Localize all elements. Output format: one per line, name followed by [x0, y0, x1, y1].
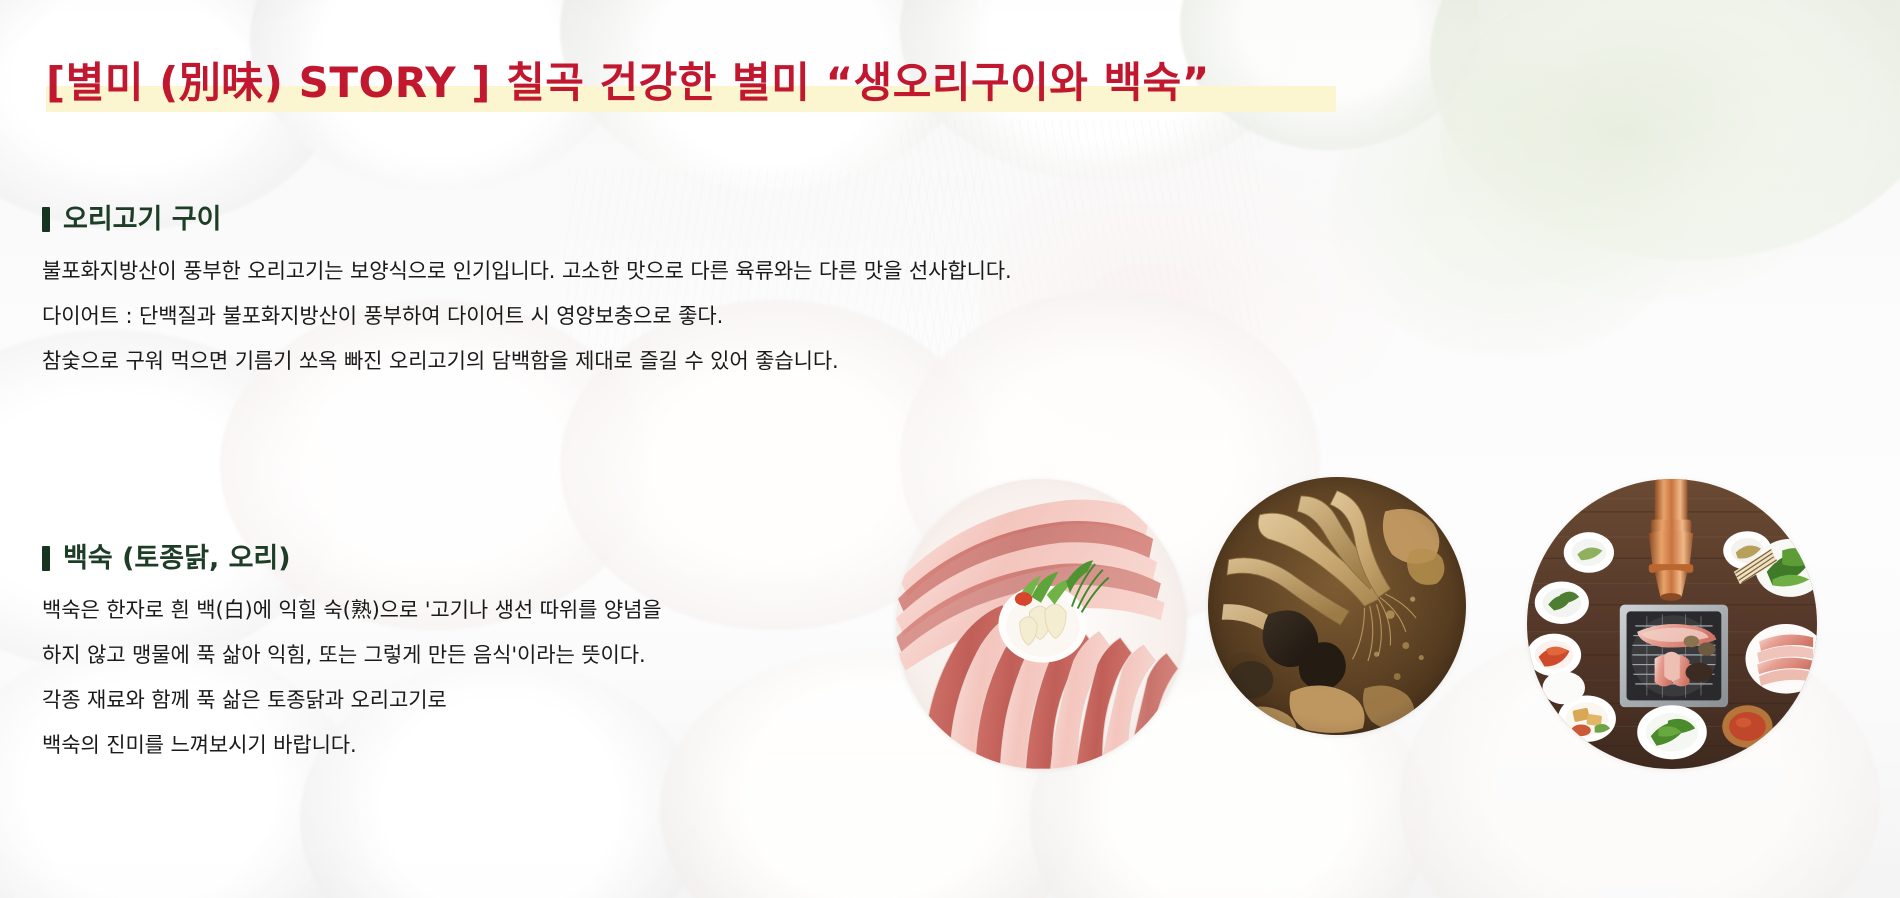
section-body: 백숙은 한자로 흰 백(白)에 익힐 숙(熟)으로 '고기나 생선 따위를 양념…: [42, 588, 662, 768]
section-body: 불포화지방산이 풍부한 오리고기는 보양식으로 인기입니다. 고소한 맛으로 다…: [42, 249, 1012, 384]
body-line: 백숙은 한자로 흰 백(白)에 익힐 숙(熟)으로 '고기나 생선 따위를 양념…: [42, 588, 662, 633]
section-baeksuk: 백숙 (토종닭, 오리) 백숙은 한자로 흰 백(白)에 익힐 숙(熟)으로 '…: [42, 545, 662, 768]
section-heading-text: 백숙 (토종닭, 오리): [63, 545, 291, 572]
body-line: 참숯으로 구워 먹으면 기름기 쏘옥 빠진 오리고기의 담백함을 제대로 즐길 …: [42, 339, 1012, 384]
body-line: 백숙의 진미를 느껴보시기 바랍니다.: [42, 723, 662, 768]
section-duck-grill: 오리고기 구이 불포화지방산이 풍부한 오리고기는 보양식으로 인기입니다. 고…: [42, 206, 1012, 384]
page-title-text: [별미 (別味) STORY ] 칠곡 건강한 별미 “생오리구이와 백숙”: [46, 62, 1210, 104]
section-heading: 백숙 (토종닭, 오리): [42, 545, 662, 572]
photo-grilled-duck-table-setting: [1527, 479, 1817, 769]
body-line: 불포화지방산이 풍부한 오리고기는 보양식으로 인기입니다. 고소한 맛으로 다…: [42, 249, 1012, 294]
heading-bar-icon: [42, 207, 50, 232]
body-line: 다이어트 : 단백질과 불포화지방산이 풍부하여 다이어트 시 영양보충으로 좋…: [42, 294, 1012, 339]
page-content: [별미 (別味) STORY ] 칠곡 건강한 별미 “생오리구이와 백숙” 오…: [0, 0, 1900, 898]
page-title: [별미 (別味) STORY ] 칠곡 건강한 별미 “생오리구이와 백숙”: [46, 52, 1210, 114]
body-line: 각종 재료와 함께 푹 삶은 토종닭과 오리고기로: [42, 678, 662, 723]
section-heading-text: 오리고기 구이: [63, 206, 221, 233]
photo-baeksuk-stew-ginseng: [1208, 477, 1466, 735]
photo-raw-duck-meat-platter: [896, 479, 1186, 769]
promo-page: [별미 (別味) STORY ] 칠곡 건강한 별미 “생오리구이와 백숙” 오…: [0, 0, 1900, 898]
section-heading: 오리고기 구이: [42, 206, 1012, 233]
body-line: 하지 않고 맹물에 푹 삶아 익힘, 또는 그렇게 만든 음식'이라는 뜻이다.: [42, 633, 662, 678]
heading-bar-icon: [42, 546, 50, 571]
